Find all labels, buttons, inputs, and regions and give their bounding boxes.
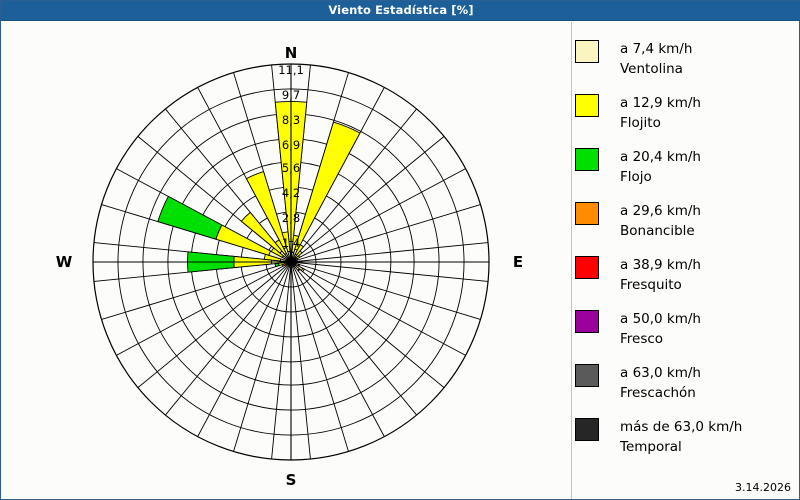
legend-swatch [575, 310, 599, 333]
legend-swatch [575, 148, 599, 171]
wind-rose-petal-segment [158, 196, 222, 239]
radial-tick-label: 4,2 [266, 186, 316, 200]
legend-divider [571, 22, 572, 499]
compass-label-west: W [34, 253, 94, 271]
legend-name: Bonancible [620, 221, 701, 241]
legend-speed: a 12,9 km/h [620, 95, 701, 111]
wind-rose-plot: N E S W 1,42,84,25,66,98,39,711,1 [2, 22, 568, 499]
legend-swatch [575, 40, 599, 63]
legend-label: a 20,4 km/hFlojo [620, 147, 701, 187]
legend-item[interactable]: a 7,4 km/hVentolina [575, 39, 797, 84]
legend-swatch [575, 202, 599, 225]
legend-speed: a 38,9 km/h [620, 257, 701, 273]
legend-swatch [575, 94, 599, 117]
radial-tick-label: 1,4 [266, 236, 316, 250]
radial-tick-label: 8,3 [266, 113, 316, 127]
radial-tick-label: 6,9 [266, 138, 316, 152]
legend-speed: más de 63,0 km/h [620, 419, 742, 435]
grid-spoke [291, 262, 417, 415]
legend-item[interactable]: más de 63,0 km/hTemporal [575, 417, 797, 462]
wind-rose-petal-segment [295, 260, 296, 261]
wind-rose-petals [158, 101, 360, 272]
legend-item[interactable]: a 12,9 km/hFlojito [575, 93, 797, 138]
legend-name: Fresquito [620, 275, 701, 295]
legend-label: a 63,0 km/hFrescachón [620, 363, 701, 403]
legend-label: a 29,6 km/hBonancible [620, 201, 701, 241]
grid-spoke [165, 262, 291, 415]
radial-tick-label: 11,1 [266, 63, 316, 77]
legend-item[interactable]: a 63,0 km/hFrescachón [575, 363, 797, 408]
grid-spoke [291, 262, 466, 355]
compass-label-east: E [488, 253, 548, 271]
legend-swatch [575, 364, 599, 387]
legend-label: a 50,0 km/hFresco [620, 309, 701, 349]
legend-item[interactable]: a 29,6 km/hBonancible [575, 201, 797, 246]
grid-spoke [291, 262, 444, 388]
grid-spoke [234, 262, 291, 451]
window-title: Viento Estadística [%] [1, 1, 800, 20]
grid-spoke [291, 205, 480, 262]
legend-label: a 7,4 km/hVentolina [620, 39, 692, 79]
grid-spoke [138, 262, 291, 388]
radial-tick-label: 9,7 [266, 88, 316, 102]
legend-speed: a 29,6 km/h [620, 203, 701, 219]
legend-name: Temporal [620, 437, 742, 457]
grid-spoke [291, 262, 384, 437]
legend-speed: a 63,0 km/h [620, 365, 701, 381]
legend: a 7,4 km/hVentolinaa 12,9 km/hFlojitoa 2… [575, 39, 797, 471]
legend-item[interactable]: a 38,9 km/hFresquito [575, 255, 797, 300]
compass-label-north: N [261, 44, 321, 62]
legend-label: a 12,9 km/hFlojito [620, 93, 701, 133]
legend-name: Fresco [620, 329, 701, 349]
legend-label: a 38,9 km/hFresquito [620, 255, 701, 295]
radial-tick-label: 5,6 [266, 161, 316, 175]
legend-speed: a 20,4 km/h [620, 149, 701, 165]
legend-speed: a 50,0 km/h [620, 311, 701, 327]
grid-spoke [116, 262, 291, 355]
legend-swatch [575, 418, 599, 441]
radial-tick-label: 2,8 [266, 211, 316, 225]
legend-label: más de 63,0 km/hTemporal [620, 417, 742, 457]
legend-name: Frescachón [620, 383, 701, 403]
grid-spoke [198, 262, 291, 437]
legend-name: Flojo [620, 167, 701, 187]
compass-label-south: S [261, 471, 321, 489]
grid-spoke [291, 262, 348, 451]
footer-date: 3.14.2026 [735, 481, 791, 494]
legend-speed: a 7,4 km/h [620, 41, 692, 57]
window-title-bar: Viento Estadística [%] [1, 1, 800, 21]
wind-rose-window: Viento Estadística [%] N E S W 1,42,84,2… [0, 0, 800, 500]
legend-name: Ventolina [620, 59, 692, 79]
legend-swatch [575, 256, 599, 279]
legend-item[interactable]: a 20,4 km/hFlojo [575, 147, 797, 192]
legend-item[interactable]: a 50,0 km/hFresco [575, 309, 797, 354]
legend-name: Flojito [620, 113, 701, 133]
grid-spoke [291, 262, 480, 319]
